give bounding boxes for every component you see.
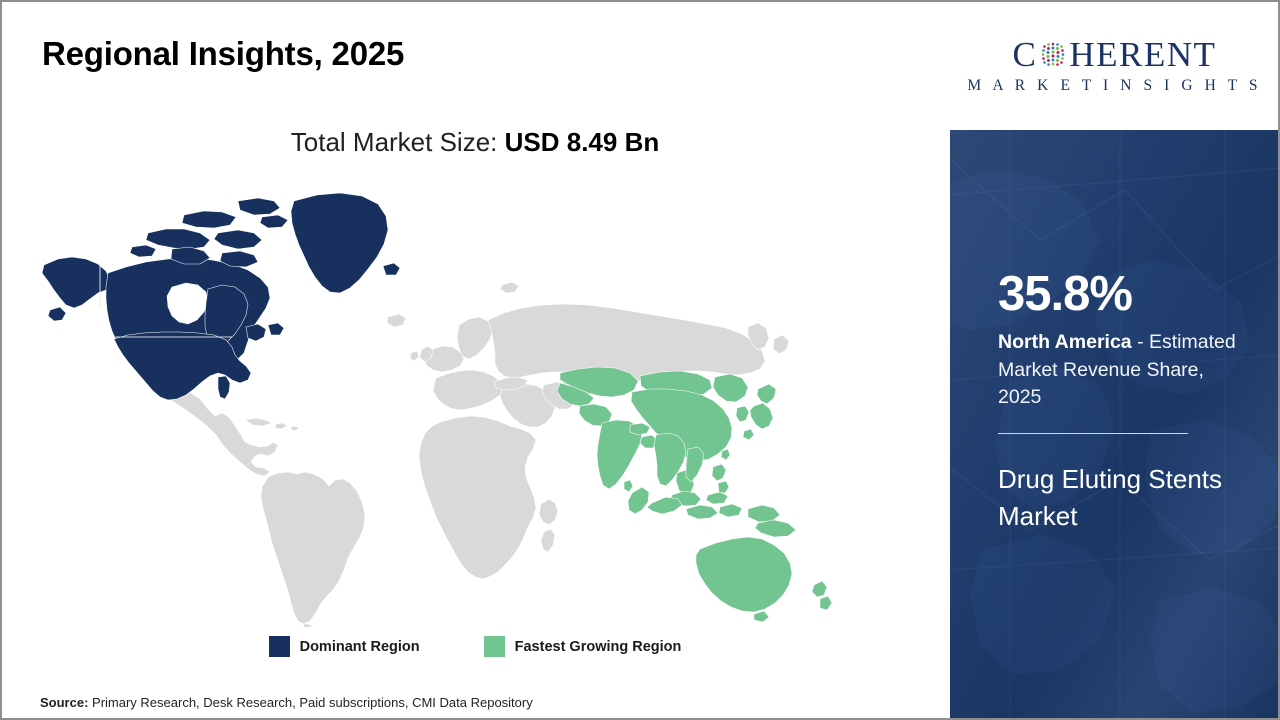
brand-logo-letters-herent: HERENT bbox=[1069, 37, 1216, 72]
stat-caption-region: North America bbox=[998, 331, 1132, 353]
stat-divider-rule bbox=[998, 433, 1188, 434]
total-market-size-label: Total Market Size: bbox=[291, 127, 505, 157]
map-legend: Dominant Region Fastest Growing Region bbox=[2, 636, 948, 657]
source-label: Source: bbox=[40, 695, 88, 710]
stat-value: 35.8% bbox=[998, 270, 1244, 320]
world-map bbox=[32, 177, 852, 627]
brand-logo-letter-c: C bbox=[1013, 37, 1038, 72]
infographic-page: Regional Insights, 2025 Total Market Siz… bbox=[0, 0, 1280, 720]
legend-item-dominant: Dominant Region bbox=[269, 636, 420, 657]
legend-item-fastest-growing: Fastest Growing Region bbox=[484, 636, 682, 657]
right-rail: C bbox=[949, 2, 1280, 718]
source-note: Source: Primary Research, Desk Research,… bbox=[40, 695, 533, 710]
world-map-container bbox=[32, 177, 852, 627]
stat-panel-content: 35.8% North America - Estimated Market R… bbox=[998, 270, 1244, 535]
brand-logo-subtitle: M A R K E T I N S I G H T S bbox=[967, 77, 1261, 95]
regional-stat-panel: 35.8% North America - Estimated Market R… bbox=[950, 130, 1280, 718]
legend-swatch-dominant-icon bbox=[269, 636, 290, 657]
market-name: Drug Eluting Stents Market bbox=[998, 461, 1244, 535]
map-region-asia-pacific bbox=[557, 367, 832, 622]
map-region-north-america bbox=[42, 193, 400, 400]
total-market-size: Total Market Size: USD 8.49 Bn bbox=[2, 127, 948, 158]
stat-caption: North America - Estimated Market Revenue… bbox=[998, 329, 1244, 412]
legend-swatch-fastest-growing-icon bbox=[484, 636, 505, 657]
total-market-size-value: USD 8.49 Bn bbox=[505, 127, 660, 157]
left-content-pane: Regional Insights, 2025 Total Market Siz… bbox=[2, 2, 948, 718]
source-text: Primary Research, Desk Research, Paid su… bbox=[88, 695, 532, 710]
brand-logo[interactable]: C bbox=[949, 2, 1280, 130]
legend-label-dominant: Dominant Region bbox=[300, 639, 420, 655]
legend-label-fastest-growing: Fastest Growing Region bbox=[515, 639, 682, 655]
dotted-globe-icon bbox=[1038, 40, 1068, 70]
brand-logo-wordmark: C bbox=[1013, 37, 1217, 72]
page-title: Regional Insights, 2025 bbox=[42, 35, 404, 73]
